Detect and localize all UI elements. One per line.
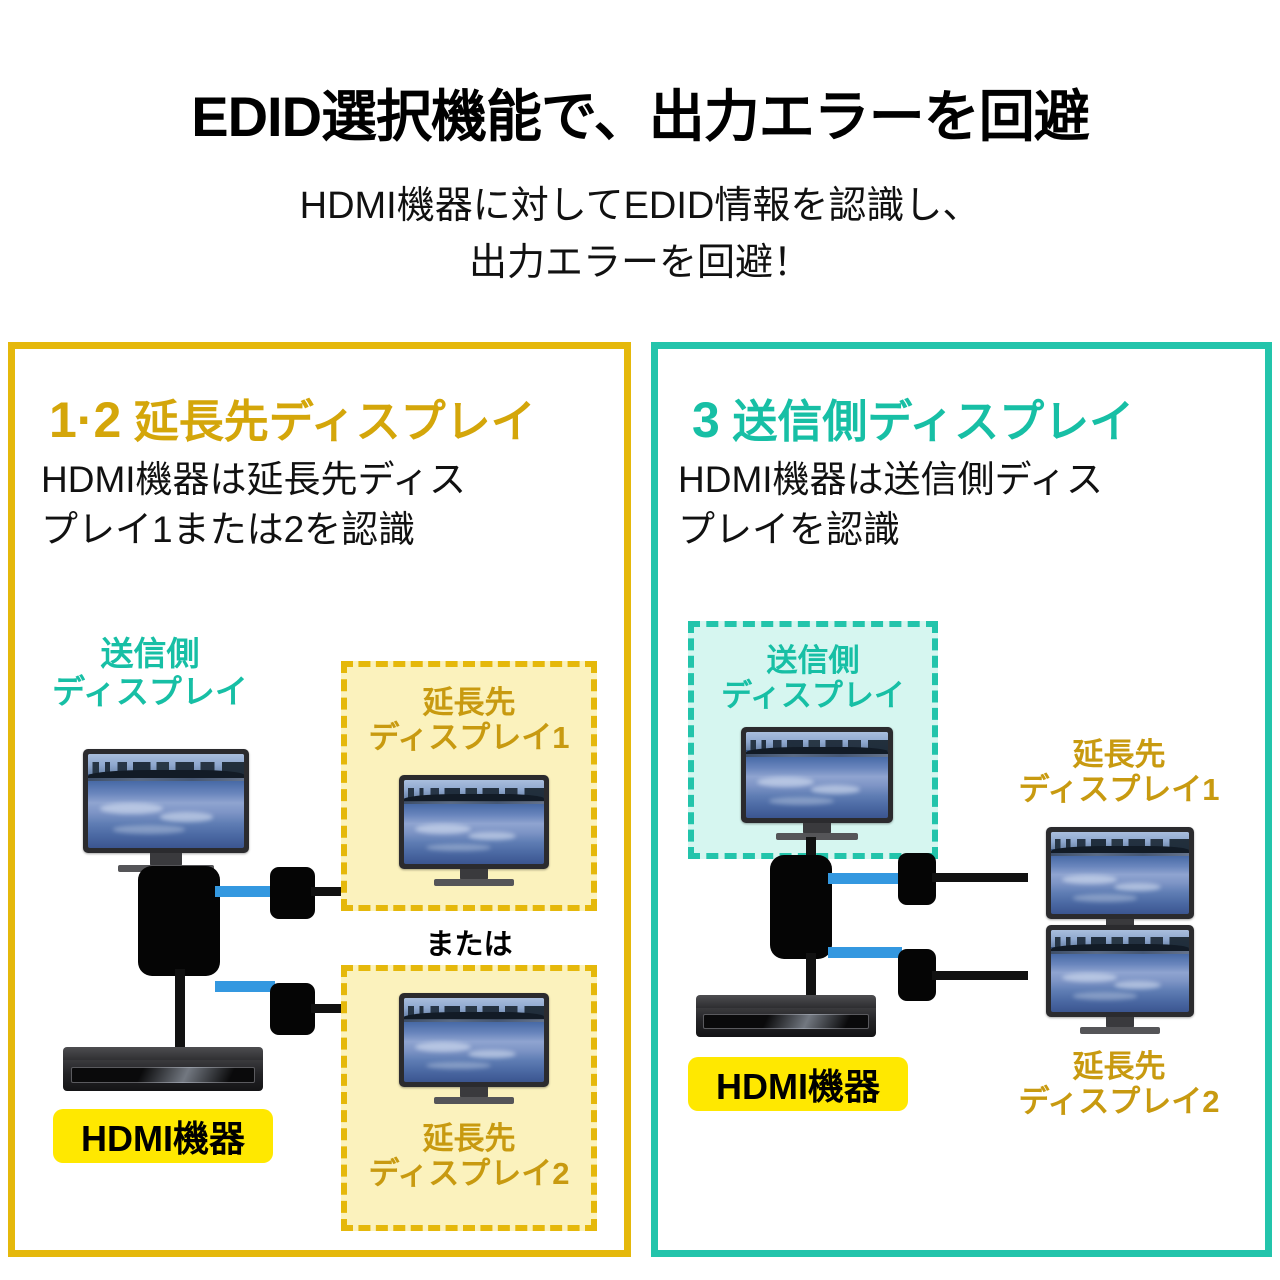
left-or-label: または [341, 921, 597, 963]
screen-cloud [1062, 973, 1117, 983]
left-panel-description: HDMI機器は延長先ディス プレイ1または2を認識 [41, 455, 601, 555]
screen-shore [746, 754, 888, 757]
left-panel-heading-label: 延長先ディスプレイ [134, 396, 536, 447]
left-splitter-device [138, 866, 220, 976]
right-connector-lower [898, 949, 936, 1001]
subtitle-line-2: 出力エラーを回避！ [0, 235, 1280, 292]
monitor-bezel [1046, 925, 1194, 1017]
monitor-bezel [741, 727, 893, 823]
right-source-display-box: 送信側 ディスプレイ [688, 621, 938, 859]
left-source-label-line-1: 送信側 [15, 635, 285, 673]
right-source-display-label: 送信側 ディスプレイ [694, 643, 932, 714]
screen-cloud [757, 777, 814, 787]
left-hdmi-player-device [63, 1047, 263, 1091]
screen-cloud [426, 1062, 490, 1070]
screen-shore [1051, 853, 1189, 856]
screen-shore [404, 1019, 544, 1022]
screen-shore [88, 778, 244, 782]
right-desc-line-1: HDMI機器は送信側ディス [678, 455, 1238, 505]
right-source-label-line-2: ディスプレイ [694, 678, 932, 713]
left-cable-splitter-to-player [175, 969, 185, 1049]
left-ext2-monitor [399, 993, 549, 1087]
screen-cloud [100, 803, 162, 814]
panel-extension-display: 1·2 延長先ディスプレイ HDMI機器は延長先ディス プレイ1または2を認識 … [8, 342, 631, 1257]
page-title: EDID選択機能で、出力エラーを回避 [0, 72, 1280, 153]
right-ext1-monitor [1046, 827, 1194, 919]
right-cable-splitter-to-player [806, 953, 816, 997]
right-ext2-label-line-2: ディスプレイ2 [988, 1084, 1250, 1119]
right-splitter-device [770, 855, 832, 959]
left-blue-cable-lower [215, 981, 275, 992]
screen-cloud [1114, 883, 1161, 891]
screen-cloud [113, 825, 185, 833]
right-blue-cable-upper [828, 873, 902, 884]
left-ext1-stand-base [434, 879, 514, 886]
right-source-stand-base [776, 833, 858, 840]
subtitle-line-1: HDMI機器に対してEDID情報を認識し、 [0, 178, 1280, 235]
page-subtitle: HDMI機器に対してEDID情報を認識し、 出力エラーを回避！ [0, 178, 1280, 292]
player-gloss [71, 1067, 255, 1083]
right-ext2-stand-base [1080, 1027, 1160, 1034]
right-ext2-label: 延長先 ディスプレイ2 [988, 1049, 1250, 1120]
player-body [696, 1008, 876, 1037]
left-desc-line-2: プレイ1または2を認識 [41, 505, 601, 555]
monitor-screen [746, 732, 888, 818]
left-ext1-label-line-1: 延長先 [347, 685, 591, 720]
screen-cloud [1073, 992, 1136, 999]
monitor-bezel [1046, 827, 1194, 919]
left-panel-heading-number: 1·2 [49, 392, 121, 448]
left-source-monitor [83, 749, 249, 853]
screen-cloud [160, 812, 213, 821]
right-panel-heading-number: 3 [692, 392, 720, 448]
monitor-screen [88, 754, 244, 848]
screen-shore [1051, 951, 1189, 954]
screen-cloud [811, 785, 859, 794]
right-panel-description: HDMI機器は送信側ディス プレイを認識 [678, 455, 1238, 555]
player-body [63, 1060, 263, 1091]
right-ext2-label-line-1: 延長先 [988, 1049, 1250, 1084]
left-ext1-monitor [399, 775, 549, 869]
left-ext2-label-line-1: 延長先 [347, 1121, 591, 1156]
monitor-screen [404, 780, 544, 864]
right-panel-heading-label: 送信側ディスプレイ [732, 396, 1134, 447]
right-cable-to-ext-display-2 [932, 971, 1028, 980]
monitor-screen [1051, 832, 1189, 914]
right-hdmi-device-badge: HDMI機器 [688, 1057, 908, 1111]
right-blue-cable-lower [828, 947, 902, 958]
screen-cloud [468, 832, 516, 840]
left-ext2-label-line-2: ディスプレイ2 [347, 1156, 591, 1191]
left-source-label-line-2: ディスプレイ [15, 673, 285, 711]
screen-cloud [415, 824, 471, 834]
monitor-screen [404, 998, 544, 1082]
monitor-bezel [83, 749, 249, 853]
left-source-display-label: 送信側 ディスプレイ [15, 635, 285, 710]
right-ext1-label: 延長先 ディスプレイ1 [988, 737, 1250, 808]
left-panel-heading: 1·2 延長先ディスプレイ [49, 385, 536, 450]
right-ext2-monitor [1046, 925, 1194, 1017]
right-source-label-line-1: 送信側 [694, 643, 932, 678]
screen-shore [404, 801, 544, 804]
right-desc-line-2: プレイを認識 [678, 505, 1238, 555]
left-ext2-stand-base [434, 1097, 514, 1104]
left-blue-cable-upper [215, 886, 275, 897]
left-ext1-label: 延長先 ディスプレイ1 [347, 685, 591, 756]
panel-source-display: 3 送信側ディスプレイ HDMI機器は送信側ディス プレイを認識 送信側 ディス… [651, 342, 1272, 1257]
screen-cloud [769, 797, 834, 805]
monitor-bezel [399, 993, 549, 1087]
screen-cloud [468, 1050, 516, 1058]
right-connector-upper [898, 853, 936, 905]
screen-cloud [1062, 875, 1117, 885]
screen-cloud [1114, 981, 1161, 989]
right-hdmi-player-device [696, 995, 876, 1037]
right-source-monitor [741, 727, 893, 823]
left-ext2-label: 延長先 ディスプレイ2 [347, 1121, 591, 1192]
right-cable-to-ext-display-1 [932, 873, 1028, 882]
left-connector-upper [270, 867, 315, 919]
left-ext-display-2-box: 延長先 ディスプレイ2 [341, 965, 597, 1231]
player-gloss [703, 1014, 869, 1029]
infographic-page: EDID選択機能で、出力エラーを回避 HDMI機器に対してEDID情報を認識し、… [0, 0, 1280, 1280]
right-panel-heading: 3 送信側ディスプレイ [692, 385, 1134, 450]
left-connector-lower [270, 983, 315, 1035]
monitor-screen [1051, 930, 1189, 1012]
right-ext1-label-line-1: 延長先 [988, 737, 1250, 772]
screen-cloud [426, 844, 490, 852]
screen-cloud [415, 1042, 471, 1052]
left-desc-line-1: HDMI機器は延長先ディス [41, 455, 601, 505]
right-ext1-label-line-2: ディスプレイ1 [988, 772, 1250, 807]
left-ext1-label-line-2: ディスプレイ1 [347, 720, 591, 755]
monitor-bezel [399, 775, 549, 869]
left-ext-display-1-box: 延長先 ディスプレイ1 [341, 661, 597, 911]
left-hdmi-device-badge: HDMI機器 [53, 1109, 273, 1163]
screen-cloud [1073, 894, 1136, 901]
